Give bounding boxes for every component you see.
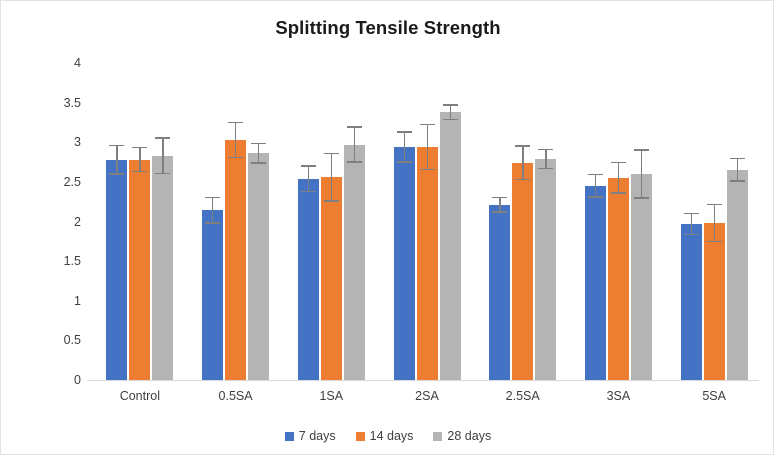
error-bar <box>202 197 223 224</box>
bar[interactable] <box>440 112 461 380</box>
y-tick-label: 1 <box>41 294 81 308</box>
legend-swatch <box>285 432 294 441</box>
bar[interactable] <box>585 186 606 380</box>
bar-group <box>394 63 461 380</box>
y-tick-label: 3 <box>41 135 81 149</box>
legend-item[interactable]: 14 days <box>356 429 414 443</box>
error-bar <box>535 149 556 170</box>
error-bar <box>298 165 319 192</box>
bar[interactable] <box>704 223 725 380</box>
error-bar <box>512 145 533 180</box>
chart-container: Splitting Tensile Strength Splitting Ten… <box>0 0 774 455</box>
bar[interactable] <box>512 163 533 380</box>
error-bar <box>321 153 342 202</box>
bar[interactable] <box>681 224 702 380</box>
bar-group <box>489 63 556 380</box>
bar-group <box>681 63 748 380</box>
error-bar <box>608 162 629 194</box>
plot-area <box>89 63 759 380</box>
x-tick-label: 5SA <box>654 389 774 403</box>
chart-legend: 7 days14 days28 days <box>1 429 775 443</box>
error-bar <box>704 204 725 242</box>
bar[interactable] <box>321 177 342 380</box>
y-tick-label: 2.5 <box>41 175 81 189</box>
bar[interactable] <box>248 153 269 380</box>
bar[interactable] <box>106 160 127 380</box>
y-tick-label: 0.5 <box>41 333 81 347</box>
legend-item[interactable]: 7 days <box>285 429 336 443</box>
error-bar <box>394 131 415 163</box>
legend-item[interactable]: 28 days <box>433 429 491 443</box>
bar-group <box>298 63 365 380</box>
bar[interactable] <box>608 178 629 380</box>
error-bar <box>440 104 461 120</box>
y-tick-label: 3.5 <box>41 96 81 110</box>
bar[interactable] <box>535 159 556 380</box>
y-tick-label: 1.5 <box>41 254 81 268</box>
legend-label: 14 days <box>370 429 414 443</box>
bar-group <box>106 63 173 380</box>
legend-label: 7 days <box>299 429 336 443</box>
bar[interactable] <box>202 210 223 380</box>
bar[interactable] <box>417 147 438 380</box>
bar[interactable] <box>129 160 150 380</box>
error-bar <box>344 126 365 162</box>
bar[interactable] <box>225 140 246 380</box>
error-bar <box>727 158 748 182</box>
x-axis-line <box>87 380 759 381</box>
error-bar <box>585 174 606 198</box>
legend-swatch <box>433 432 442 441</box>
y-tick-label: 0 <box>41 373 81 387</box>
y-tick-label: 4 <box>41 56 81 70</box>
error-bar <box>681 213 702 235</box>
chart-title: Splitting Tensile Strength <box>1 17 775 39</box>
error-bar <box>631 149 652 198</box>
bar[interactable] <box>489 205 510 380</box>
legend-label: 28 days <box>447 429 491 443</box>
error-bar <box>106 145 127 175</box>
bar[interactable] <box>298 179 319 380</box>
error-bar <box>417 124 438 170</box>
bar[interactable] <box>344 145 365 380</box>
bar[interactable] <box>394 147 415 380</box>
error-bar <box>489 197 510 213</box>
error-bar <box>248 143 269 164</box>
error-bar <box>225 122 246 158</box>
error-bar <box>129 147 150 172</box>
bar[interactable] <box>631 174 652 380</box>
bar-group <box>202 63 269 380</box>
error-bar <box>152 137 173 173</box>
bar[interactable] <box>727 170 748 380</box>
bar-group <box>585 63 652 380</box>
legend-swatch <box>356 432 365 441</box>
bar[interactable] <box>152 156 173 380</box>
y-tick-label: 2 <box>41 215 81 229</box>
